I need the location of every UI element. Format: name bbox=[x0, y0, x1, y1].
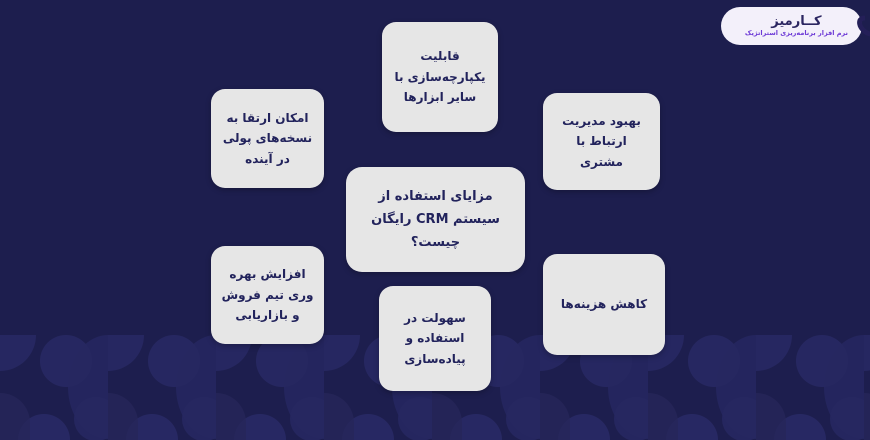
mindmap-node-upgrade[interactable]: امکان ارتقا به نسخه‌های پولی در آینده bbox=[211, 89, 324, 188]
mindmap-node-productivity[interactable]: افزایش بهره وری تیم فروش و بازاریابی bbox=[211, 246, 324, 344]
node-label-upgrade: امکان ارتقا به نسخه‌های پولی در آینده bbox=[221, 108, 314, 170]
mindmap-node-integration[interactable]: قابلیت یکپارچه‌سازی با سایر ابزارها bbox=[382, 22, 498, 132]
logo-plate: کــارمیز نرم افزار برنامه‌ریزی استراتژیک bbox=[721, 7, 862, 45]
node-label-integration: قابلیت یکپارچه‌سازی با سایر ابزارها bbox=[392, 46, 488, 108]
logo-wordmark: کــارمیز bbox=[771, 15, 821, 28]
center-node-label: مزایای استفاده از سیستم CRM رایگان چیست؟ bbox=[356, 185, 515, 254]
mindmap-node-crm[interactable]: بهبود مدیریت ارتباط با مشتری bbox=[543, 93, 660, 190]
logo-tagline: نرم افزار برنامه‌ریزی استراتژیک bbox=[745, 30, 848, 37]
infographic-canvas: کــارمیز نرم افزار برنامه‌ریزی استراتژیک… bbox=[0, 0, 870, 440]
mindmap-center-node[interactable]: مزایای استفاده از سیستم CRM رایگان چیست؟ bbox=[346, 167, 525, 272]
mindmap-node-cost[interactable]: کاهش هزینه‌ها bbox=[543, 254, 665, 355]
node-label-productivity: افزایش بهره وری تیم فروش و بازاریابی bbox=[221, 264, 314, 326]
node-label-crm: بهبود مدیریت ارتباط با مشتری bbox=[553, 111, 650, 173]
crescent-c-icon bbox=[853, 12, 870, 41]
brand-logo[interactable]: کــارمیز نرم افزار برنامه‌ریزی استراتژیک bbox=[721, 7, 862, 45]
logo-mark bbox=[859, 14, 870, 38]
mindmap-node-ease[interactable]: سهولت در استفاده و پیاده‌سازی bbox=[379, 286, 491, 391]
node-label-cost: کاهش هزینه‌ها bbox=[553, 294, 655, 315]
node-label-ease: سهولت در استفاده و پیاده‌سازی bbox=[389, 308, 481, 370]
